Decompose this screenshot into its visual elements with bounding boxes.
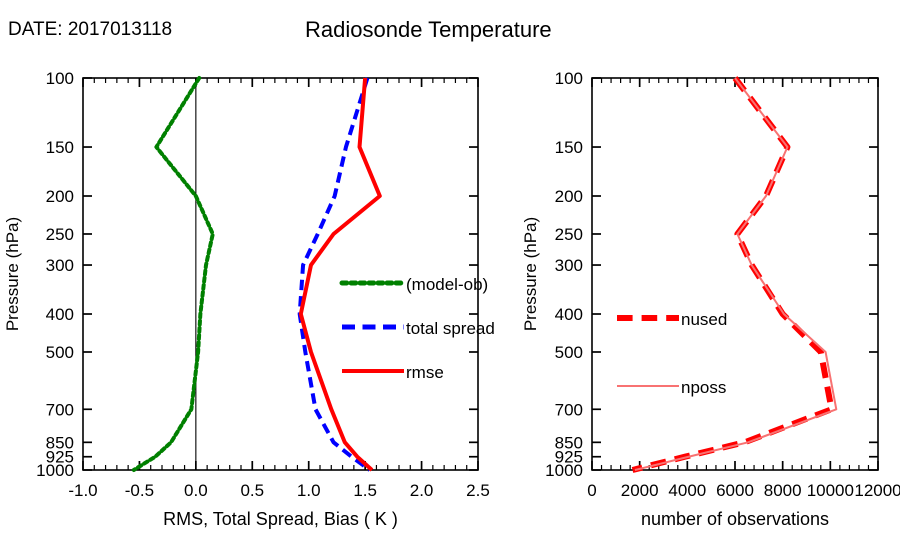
y-tick-label: 150	[555, 138, 583, 157]
plot-frame	[592, 78, 878, 470]
series-nposs	[635, 78, 836, 470]
x-axis-label: RMS, Total Spread, Bias ( K )	[163, 509, 398, 529]
legend-label: total spread	[406, 319, 495, 338]
y-tick-label: 400	[46, 305, 74, 324]
right-panel-svg: 0200040006000800010000120001001502002503…	[520, 0, 900, 560]
legend-label: rmse	[406, 363, 444, 382]
series-rmse	[301, 78, 380, 470]
y-tick-label: 500	[46, 343, 74, 362]
right-panel: 0200040006000800010000120001001502002503…	[520, 0, 900, 560]
x-tick-label: 4000	[668, 481, 706, 500]
x-tick-label: 10000	[807, 481, 854, 500]
series-modelob	[134, 78, 213, 470]
x-tick-label: -0.5	[125, 481, 154, 500]
x-axis-label: number of observations	[641, 509, 829, 529]
x-tick-label: 8000	[764, 481, 802, 500]
left-panel-svg: -1.0-0.50.00.51.01.52.02.510015020025030…	[0, 0, 520, 560]
x-tick-label: 1.5	[353, 481, 377, 500]
legend-label: nposs	[681, 378, 726, 397]
y-tick-label: 1000	[545, 461, 583, 480]
y-axis-label: Pressure (hPa)	[521, 217, 540, 331]
y-tick-label: 300	[555, 256, 583, 275]
x-tick-label: 12000	[854, 481, 900, 500]
y-tick-label: 1000	[36, 461, 74, 480]
y-tick-label: 300	[46, 256, 74, 275]
x-tick-label: -1.0	[68, 481, 97, 500]
x-tick-label: 0	[587, 481, 596, 500]
y-tick-label: 200	[46, 187, 74, 206]
series-nused	[633, 78, 832, 470]
y-tick-label: 200	[555, 187, 583, 206]
plot-frame	[83, 78, 478, 470]
x-tick-label: 2.0	[410, 481, 434, 500]
x-tick-label: 1.0	[297, 481, 321, 500]
y-tick-label: 150	[46, 138, 74, 157]
y-tick-label: 250	[555, 225, 583, 244]
y-tick-label: 250	[46, 225, 74, 244]
y-tick-label: 700	[46, 400, 74, 419]
y-tick-label: 500	[555, 343, 583, 362]
left-panel: -1.0-0.50.00.51.01.52.02.510015020025030…	[0, 0, 520, 560]
y-tick-label: 100	[46, 69, 74, 88]
x-tick-label: 0.0	[184, 481, 208, 500]
legend-label: (model-ob)	[406, 275, 488, 294]
y-axis-label: Pressure (hPa)	[3, 217, 22, 331]
y-tick-label: 400	[555, 305, 583, 324]
x-tick-label: 2000	[621, 481, 659, 500]
x-tick-label: 0.5	[240, 481, 264, 500]
legend-label: nused	[681, 310, 727, 329]
x-tick-label: 2.5	[466, 481, 490, 500]
y-tick-label: 100	[555, 69, 583, 88]
y-tick-label: 700	[555, 400, 583, 419]
x-tick-label: 6000	[716, 481, 754, 500]
